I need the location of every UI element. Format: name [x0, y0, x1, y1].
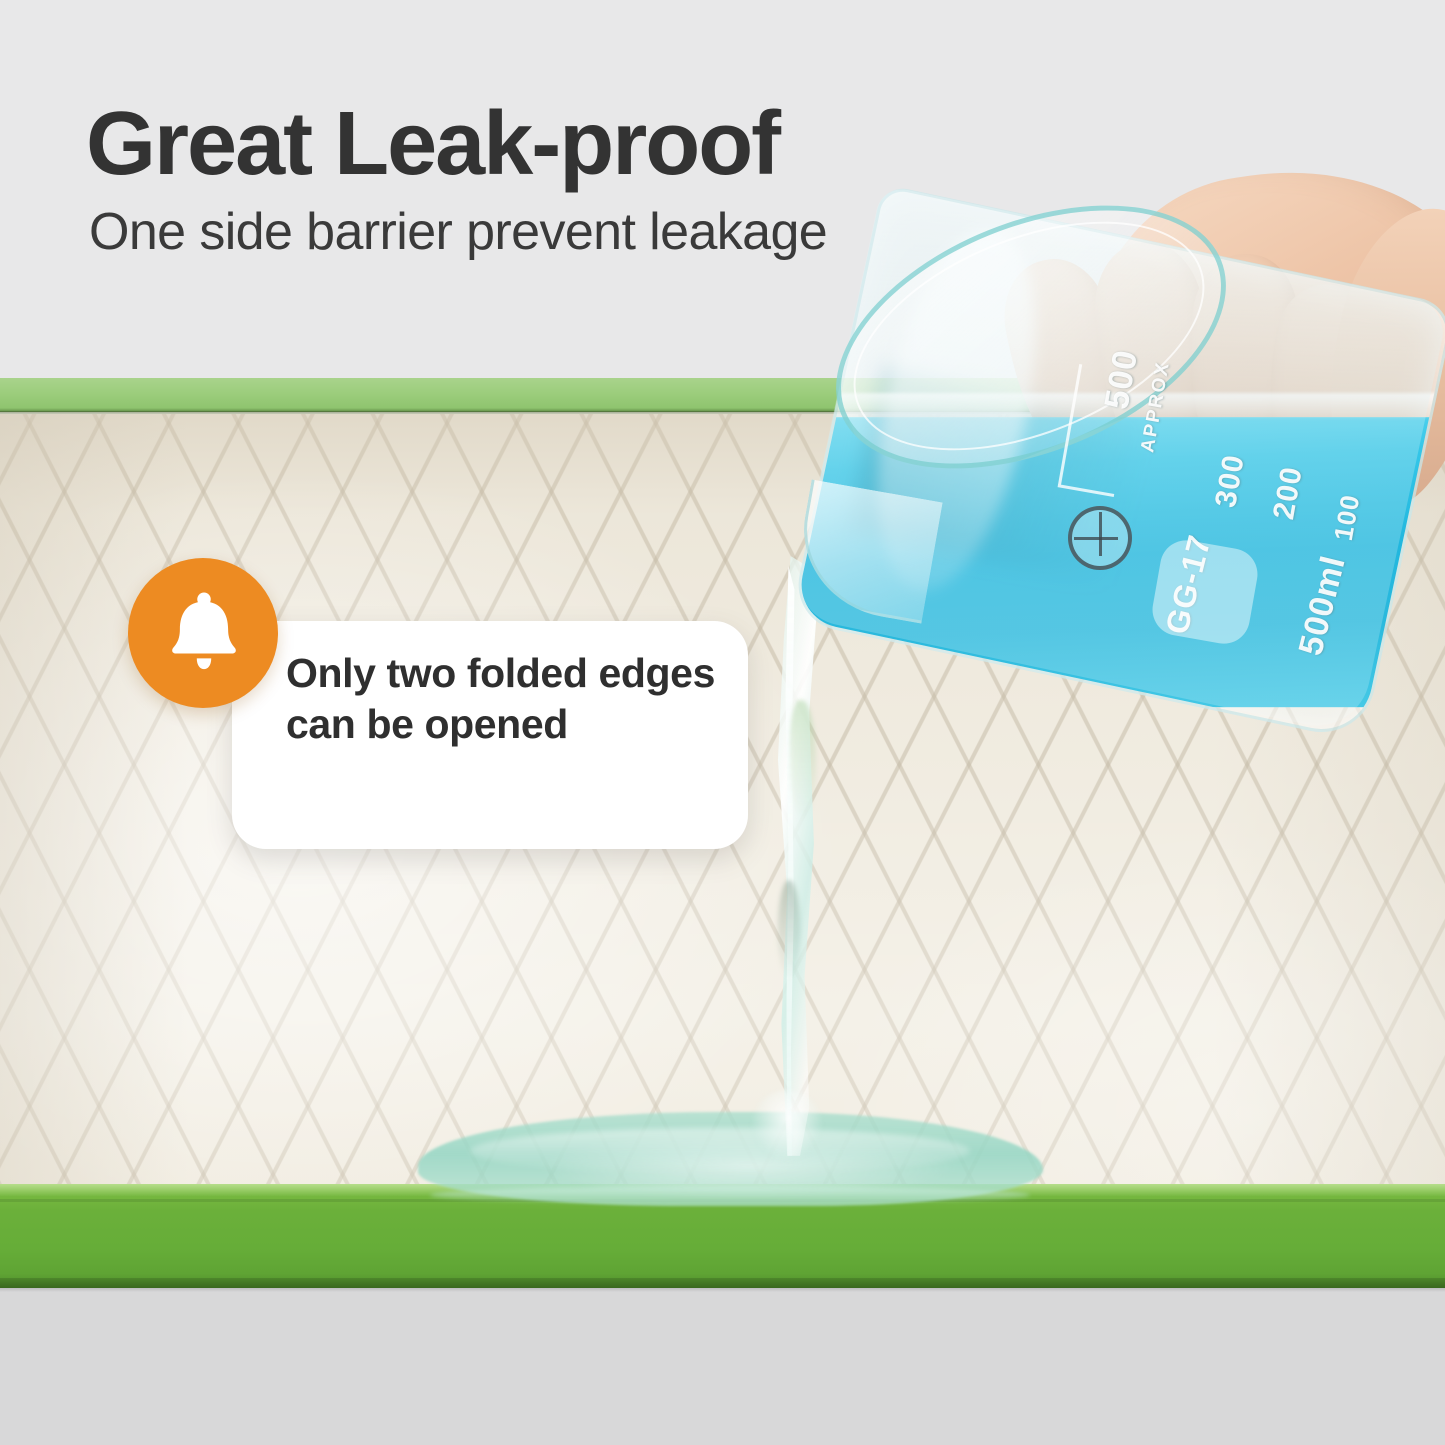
product-feature-poster: Great Leak-proof One side barrier preven…	[0, 0, 1445, 1445]
mat-near-edge-bevel	[0, 1278, 1445, 1288]
stream-tint-lower	[778, 880, 800, 980]
page-title: Great Leak-proof	[86, 99, 779, 189]
pool-sheen	[470, 1128, 970, 1174]
stream-impact-splash	[752, 1090, 822, 1160]
page-subtitle: One side barrier prevent leakage	[89, 206, 827, 258]
bell-icon	[165, 592, 243, 674]
beaker-brand-patch	[1148, 536, 1261, 648]
bell-badge	[128, 558, 278, 708]
footer-seam	[0, 1288, 1445, 1292]
hand-holding-beaker: 500 APPROX 300 200 100 GG-17 500ml	[800, 200, 1445, 760]
beaker-globe-icon	[1068, 506, 1132, 570]
callout-label: Only two folded edges can be opened	[286, 648, 734, 750]
pool-rim	[430, 1186, 1030, 1204]
footer-band	[0, 1288, 1445, 1445]
